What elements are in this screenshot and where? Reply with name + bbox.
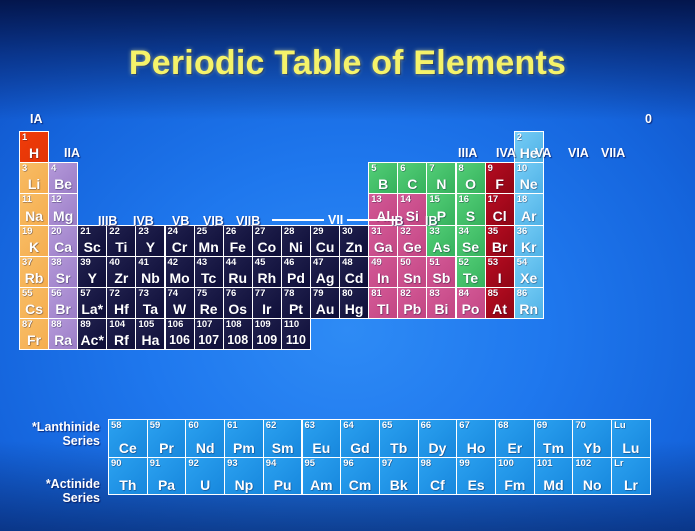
element-symbol: Bi: [427, 301, 455, 317]
element-symbol: Rn: [515, 301, 543, 317]
element-symbol: Zn: [340, 239, 368, 255]
atomic-number: 72: [109, 288, 120, 299]
element-cell-N[interactable]: 7N: [426, 162, 456, 194]
group-label-iia-1: IIA: [64, 146, 80, 160]
element-cell-Tl[interactable]: 81Tl: [368, 287, 398, 319]
atomic-number: 108: [226, 319, 242, 330]
atomic-number: 8: [459, 163, 464, 174]
element-cell-Os[interactable]: 76Os: [223, 287, 253, 319]
element-symbol: Po: [457, 301, 485, 317]
element-symbol: Pt: [282, 301, 310, 317]
element-symbol: As: [427, 239, 455, 255]
element-cell-Cm[interactable]: 96Cm: [340, 457, 380, 496]
element-cell-Te[interactable]: 52Te: [456, 256, 486, 288]
group-label-viia-13: VIIA: [601, 146, 625, 160]
element-cell-Hg[interactable]: 80Hg: [339, 287, 369, 319]
element-cell-W[interactable]: 74W: [165, 287, 195, 319]
element-cell-Yb[interactable]: 70Yb: [572, 419, 612, 458]
element-cell-106[interactable]: 106106: [165, 318, 195, 350]
atomic-number: 38: [51, 257, 62, 268]
element-cell-Rf[interactable]: 104Rf: [106, 318, 136, 350]
element-cell-Cd[interactable]: 48Cd: [339, 256, 369, 288]
element-cell-Sb[interactable]: 51Sb: [426, 256, 456, 288]
series-label-line2: Series: [8, 434, 100, 448]
element-cell-Cf[interactable]: 98Cf: [418, 457, 458, 496]
atomic-number: 52: [459, 257, 470, 268]
atomic-number: 54: [517, 257, 528, 268]
element-cell-Cs[interactable]: 55Cs: [19, 287, 49, 319]
atomic-number: 110: [284, 319, 299, 330]
element-symbol: Eu: [303, 440, 341, 456]
atomic-number: 106: [168, 319, 184, 330]
atomic-number: 14: [400, 194, 411, 205]
element-cell-Co[interactable]: 27Co: [252, 225, 282, 257]
element-symbol: Fr: [20, 332, 48, 348]
element-cell-Ar[interactable]: 18Ar: [514, 193, 544, 225]
element-symbol: W: [166, 301, 194, 317]
atomic-number: 51: [429, 257, 440, 268]
element-cell-Re[interactable]: 75Re: [194, 287, 224, 319]
atomic-number: 56: [51, 288, 62, 299]
atomic-number: 44: [226, 257, 237, 268]
element-cell-109[interactable]: 109109: [252, 318, 282, 350]
element-symbol: Tl: [369, 301, 397, 317]
element-symbol: Pb: [398, 301, 426, 317]
element-symbol: Cf: [419, 477, 457, 493]
series-label-line1: *Lanthinide: [8, 420, 100, 434]
element-symbol: Md: [535, 477, 573, 493]
atomic-number: 21: [80, 226, 91, 237]
element-symbol: C: [398, 176, 426, 192]
element-symbol: Zr: [107, 270, 135, 286]
element-symbol: Br: [486, 239, 514, 255]
atomic-number: Lu: [614, 420, 626, 431]
element-cell-Ne[interactable]: 10Ne: [514, 162, 544, 194]
atomic-number: 46: [284, 257, 295, 268]
element-cell-Sc[interactable]: 21Sc: [77, 225, 107, 257]
atomic-number: 55: [22, 288, 33, 299]
atomic-number: 97: [382, 458, 393, 469]
element-symbol: La*: [78, 301, 106, 317]
atomic-number: 99: [459, 458, 470, 469]
atomic-number: 79: [313, 288, 324, 299]
atomic-number: 59: [150, 420, 161, 431]
atomic-number: 13: [371, 194, 382, 205]
atomic-number: 77: [255, 288, 266, 299]
atomic-number: 5: [371, 163, 376, 174]
atomic-number: 7: [429, 163, 434, 174]
element-symbol: 106: [166, 332, 194, 348]
group-label-viib-6: VIIB: [236, 214, 260, 228]
atomic-number: 26: [226, 226, 237, 237]
element-symbol: Tm: [535, 440, 573, 456]
element-symbol: Sm: [264, 440, 302, 456]
element-symbol: Mn: [195, 239, 223, 255]
element-symbol: 107: [195, 332, 223, 348]
element-cell-Ag[interactable]: 47Ag: [310, 256, 340, 288]
element-symbol: Y: [78, 270, 106, 286]
element-symbol: Cs: [20, 301, 48, 317]
atomic-number: 82: [400, 288, 411, 299]
atomic-number: 17: [488, 194, 499, 205]
element-cell-Sn[interactable]: 50Sn: [397, 256, 427, 288]
element-symbol: Pr: [148, 440, 186, 456]
group-label-iiia-9: IIIA: [458, 146, 477, 160]
element-symbol: 110: [282, 332, 310, 348]
element-symbol: Co: [253, 239, 281, 255]
element-cell-At[interactable]: 85At: [485, 287, 515, 319]
element-cell-Pd[interactable]: 46Pd: [281, 256, 311, 288]
atomic-number: 62: [266, 420, 277, 431]
element-cell-Xe[interactable]: 54Xe: [514, 256, 544, 288]
atomic-number: 43: [197, 257, 208, 268]
element-cell-La[interactable]: 57La*: [77, 287, 107, 319]
atomic-number: 88: [51, 319, 62, 330]
atomic-number: 42: [168, 257, 179, 268]
element-symbol: Lr: [612, 477, 650, 493]
atomic-number: 96: [343, 458, 354, 469]
element-symbol: Tc: [195, 270, 223, 286]
element-symbol: O: [457, 176, 485, 192]
element-cell-Lu[interactable]: LuLu: [611, 419, 651, 458]
atomic-number: 50: [400, 257, 411, 268]
series-label-line1: *Actinide: [8, 477, 100, 491]
element-cell-Ga[interactable]: 31Ga: [368, 225, 398, 257]
element-cell-Pb[interactable]: 82Pb: [397, 287, 427, 319]
element-cell-Pm[interactable]: 61Pm: [224, 419, 264, 458]
group-label-via-12: VIA: [568, 146, 589, 160]
atomic-number: 12: [51, 194, 62, 205]
element-cell-Br[interactable]: 56Br: [48, 287, 78, 319]
periodic-table-poster: Periodic Table of Elements IAIIAIIIBIVBV…: [0, 0, 695, 531]
element-cell-Fe[interactable]: 26Fe: [223, 225, 253, 257]
atomic-number: 83: [429, 288, 440, 299]
element-symbol: Es: [457, 477, 495, 493]
atomic-number: 68: [498, 420, 509, 431]
element-symbol: Te: [457, 270, 485, 286]
element-cell-U[interactable]: 92U: [185, 457, 225, 496]
element-symbol: Ce: [109, 440, 147, 456]
element-symbol: Sb: [427, 270, 455, 286]
element-cell-Ru[interactable]: 44Ru: [223, 256, 253, 288]
atomic-number: 102: [575, 458, 591, 469]
element-symbol: Ra: [49, 332, 77, 348]
element-symbol: Au: [311, 301, 339, 317]
element-symbol: N: [427, 176, 455, 192]
atomic-number: 95: [305, 458, 316, 469]
element-cell-Pr[interactable]: 59Pr: [147, 419, 187, 458]
element-symbol: Pd: [282, 270, 310, 286]
group-label-vb-4: VB: [172, 214, 189, 228]
element-symbol: Ga: [369, 239, 397, 255]
element-cell-Rb[interactable]: 37Rb: [19, 256, 49, 288]
element-symbol: Bk: [380, 477, 418, 493]
element-symbol: Tb: [380, 440, 418, 456]
element-cell-Tc[interactable]: 43Tc: [194, 256, 224, 288]
element-cell-Ti[interactable]: 22Ti: [106, 225, 136, 257]
atomic-number: 20: [51, 226, 62, 237]
element-cell-K[interactable]: 19K: [19, 225, 49, 257]
element-cell-Np[interactable]: 93Np: [224, 457, 264, 496]
element-cell-Eu[interactable]: 63Eu: [302, 419, 342, 458]
element-symbol: Pm: [225, 440, 263, 456]
element-symbol: Ag: [311, 270, 339, 286]
element-cell-Ce[interactable]: 58Ce: [108, 419, 148, 458]
atomic-number: 3: [22, 163, 27, 174]
atomic-number: 1: [22, 132, 27, 143]
element-symbol: Ru: [224, 270, 252, 286]
element-symbol: I: [486, 270, 514, 286]
element-symbol: Lu: [612, 440, 650, 456]
element-cell-Lr[interactable]: LrLr: [611, 457, 651, 496]
element-cell-Se[interactable]: 34Se: [456, 225, 486, 257]
atomic-number: 69: [537, 420, 548, 431]
atomic-number: 70: [575, 420, 586, 431]
element-cell-Es[interactable]: 99Es: [456, 457, 496, 496]
element-cell-Tb[interactable]: 65Tb: [379, 419, 419, 458]
element-symbol: 109: [253, 332, 281, 348]
element-symbol: Ge: [398, 239, 426, 255]
element-symbol: In: [369, 270, 397, 286]
element-symbol: Pu: [264, 477, 302, 493]
atomic-number: 57: [80, 288, 91, 299]
element-cell-Ir[interactable]: 77Ir: [252, 287, 282, 319]
element-cell-In[interactable]: 49In: [368, 256, 398, 288]
element-cell-O[interactable]: 8O: [456, 162, 486, 194]
element-cell-Sm[interactable]: 62Sm: [263, 419, 303, 458]
element-cell-Y[interactable]: 39Y: [77, 256, 107, 288]
element-cell-Rn[interactable]: 86Rn: [514, 287, 544, 319]
element-symbol: B: [369, 176, 397, 192]
atomic-number: 16: [459, 194, 470, 205]
atomic-number: 73: [138, 288, 149, 299]
element-cell-Cu[interactable]: 29Cu: [310, 225, 340, 257]
atomic-number: 75: [197, 288, 208, 299]
element-cell-Sr[interactable]: 38Sr: [48, 256, 78, 288]
element-cell-Dy[interactable]: 66Dy: [418, 419, 458, 458]
atomic-number: 61: [227, 420, 238, 431]
element-cell-108[interactable]: 108108: [223, 318, 253, 350]
group-label-ivb-3: IVB: [133, 214, 154, 228]
atomic-number: 58: [111, 420, 122, 431]
atomic-number: 90: [111, 458, 122, 469]
element-cell-Md[interactable]: 101Md: [534, 457, 574, 496]
element-cell-Th[interactable]: 90Th: [108, 457, 148, 496]
element-cell-Er[interactable]: 68Er: [495, 419, 535, 458]
atomic-number: 47: [313, 257, 324, 268]
element-symbol: Cu: [311, 239, 339, 255]
lanthanide-series-label: *LanthinideSeries: [8, 420, 100, 448]
element-cell-Fr[interactable]: 87Fr: [19, 318, 49, 350]
element-cell-Mo[interactable]: 42Mo: [165, 256, 195, 288]
element-cell-Kr[interactable]: 36Kr: [514, 225, 544, 257]
element-cell-107[interactable]: 107107: [194, 318, 224, 350]
element-symbol: S: [457, 208, 485, 224]
vii-rule-left: [272, 219, 324, 221]
element-cell-No[interactable]: 102No: [572, 457, 612, 496]
element-symbol: Br: [49, 301, 77, 317]
element-symbol: Sc: [78, 239, 106, 255]
atomic-number: 36: [517, 226, 528, 237]
element-symbol: Rh: [253, 270, 281, 286]
atomic-number: 37: [22, 257, 33, 268]
element-symbol: Rb: [20, 270, 48, 286]
element-symbol: Np: [225, 477, 263, 493]
element-symbol: Hg: [340, 301, 368, 317]
atomic-number: 64: [343, 420, 354, 431]
group-label-vib-5: VIB: [203, 214, 224, 228]
element-symbol: Re: [195, 301, 223, 317]
element-cell-Rh[interactable]: 45Rh: [252, 256, 282, 288]
atomic-number: 84: [459, 288, 470, 299]
element-symbol: Ho: [457, 440, 495, 456]
element-cell-Nb[interactable]: 41Nb: [135, 256, 165, 288]
element-cell-Zr[interactable]: 40Zr: [106, 256, 136, 288]
element-cell-Nd[interactable]: 60Nd: [185, 419, 225, 458]
element-symbol: Gd: [341, 440, 379, 456]
element-cell-Bi[interactable]: 83Bi: [426, 287, 456, 319]
element-cell-Cl[interactable]: 17Cl: [485, 193, 515, 225]
atomic-number: 30: [342, 226, 353, 237]
element-cell-Zn[interactable]: 30Zn: [339, 225, 369, 257]
element-cell-Ni[interactable]: 28Ni: [281, 225, 311, 257]
element-symbol: Rf: [107, 332, 135, 348]
element-cell-Ra[interactable]: 88Ra: [48, 318, 78, 350]
atomic-number: 87: [22, 319, 33, 330]
element-cell-I[interactable]: 53I: [485, 256, 515, 288]
element-symbol: U: [186, 477, 224, 493]
atomic-number: 93: [227, 458, 238, 469]
element-cell-Am[interactable]: 95Am: [302, 457, 342, 496]
element-cell-Pa[interactable]: 91Pa: [147, 457, 187, 496]
element-cell-F[interactable]: 9F: [485, 162, 515, 194]
element-cell-110[interactable]: 110110: [281, 318, 311, 350]
element-cell-Au[interactable]: 79Au: [310, 287, 340, 319]
atomic-number: 29: [313, 226, 324, 237]
element-cell-Po[interactable]: 84Po: [456, 287, 486, 319]
atomic-number: 48: [342, 257, 353, 268]
element-cell-Bk[interactable]: 97Bk: [379, 457, 419, 496]
atomic-number: 67: [459, 420, 470, 431]
atomic-number: 2: [517, 132, 522, 143]
element-cell-Y[interactable]: 23Y: [135, 225, 165, 257]
element-symbol: H: [20, 145, 48, 161]
atomic-number: 4: [51, 163, 56, 174]
atomic-number: 66: [421, 420, 432, 431]
element-symbol: Am: [303, 477, 341, 493]
element-cell-Br[interactable]: 35Br: [485, 225, 515, 257]
element-symbol: Fm: [496, 477, 534, 493]
element-symbol: Nd: [186, 440, 224, 456]
atomic-number: 39: [80, 257, 91, 268]
element-cell-Tm[interactable]: 69Tm: [534, 419, 574, 458]
element-cell-Ac[interactable]: 89Ac*: [77, 318, 107, 350]
element-cell-C[interactable]: 6C: [397, 162, 427, 194]
element-cell-Li[interactable]: 3Li: [19, 162, 49, 194]
element-symbol: Mg: [49, 208, 77, 224]
atomic-number: 28: [284, 226, 295, 237]
atomic-number: 6: [400, 163, 405, 174]
element-cell-Pt[interactable]: 78Pt: [281, 287, 311, 319]
atomic-number: 18: [517, 194, 528, 205]
element-cell-Ho[interactable]: 67Ho: [456, 419, 496, 458]
element-symbol: Ni: [282, 239, 310, 255]
element-symbol: Pa: [148, 477, 186, 493]
element-cell-Ha[interactable]: 105Ha: [135, 318, 165, 350]
element-symbol: Yb: [573, 440, 611, 456]
atomic-number: 60: [188, 420, 199, 431]
atomic-number: 41: [138, 257, 149, 268]
element-symbol: Cm: [341, 477, 379, 493]
group-label-iiib-2: IIIB: [98, 214, 117, 228]
element-cell-Na[interactable]: 11Na: [19, 193, 49, 225]
element-cell-Ca[interactable]: 20Ca: [48, 225, 78, 257]
atomic-number: 9: [488, 163, 493, 174]
atomic-number: 34: [459, 226, 470, 237]
element-cell-Hf[interactable]: 72Hf: [106, 287, 136, 319]
group-label-iva-10: IVA: [496, 146, 516, 160]
atomic-number: 45: [255, 257, 266, 268]
series-label-line2: Series: [8, 491, 100, 505]
element-symbol: Ir: [253, 301, 281, 317]
atomic-number: 63: [305, 420, 316, 431]
element-cell-Mn[interactable]: 25Mn: [194, 225, 224, 257]
atomic-number: 31: [371, 226, 382, 237]
vii-rule-right: [347, 219, 399, 221]
atomic-number: 89: [80, 319, 91, 330]
element-cell-Pu[interactable]: 94Pu: [263, 457, 303, 496]
element-symbol: Er: [496, 440, 534, 456]
element-cell-As[interactable]: 33As: [426, 225, 456, 257]
element-cell-Be[interactable]: 4Be: [48, 162, 78, 194]
element-symbol: Hf: [107, 301, 135, 317]
element-cell-B[interactable]: 5B: [368, 162, 398, 194]
group-label-ia-0: IA: [30, 112, 43, 126]
page-title: Periodic Table of Elements: [0, 44, 695, 83]
atomic-number: 78: [284, 288, 295, 299]
atomic-number: 74: [168, 288, 179, 299]
group-label-vii-text: VII: [328, 213, 343, 227]
element-symbol: No: [573, 477, 611, 493]
element-cell-S[interactable]: 16S: [456, 193, 486, 225]
element-symbol: Xe: [515, 270, 543, 286]
atomic-number: 80: [342, 288, 353, 299]
element-cell-Ta[interactable]: 73Ta: [135, 287, 165, 319]
element-cell-Mg[interactable]: 12Mg: [48, 193, 78, 225]
atomic-number: 53: [488, 257, 499, 268]
element-cell-H[interactable]: 1H: [19, 131, 49, 163]
element-cell-Ge[interactable]: 32Ge: [397, 225, 427, 257]
atomic-number: 109: [255, 319, 271, 330]
element-symbol: Ta: [136, 301, 164, 317]
element-symbol: Cl: [486, 208, 514, 224]
element-symbol: At: [486, 301, 514, 317]
element-symbol: K: [20, 239, 48, 255]
element-symbol: Be: [49, 176, 77, 192]
atomic-number: 100: [498, 458, 514, 469]
element-cell-Cr[interactable]: 24Cr: [165, 225, 195, 257]
atomic-number: 94: [266, 458, 277, 469]
atomic-number: 101: [537, 458, 553, 469]
atomic-number: Lr: [614, 458, 624, 469]
element-cell-Fm[interactable]: 100Fm: [495, 457, 535, 496]
element-symbol: Cr: [166, 239, 194, 255]
element-symbol: Ti: [107, 239, 135, 255]
atomic-number: 15: [429, 194, 440, 205]
element-cell-Gd[interactable]: 64Gd: [340, 419, 380, 458]
atomic-number: 76: [226, 288, 237, 299]
atomic-number: 86: [517, 288, 528, 299]
